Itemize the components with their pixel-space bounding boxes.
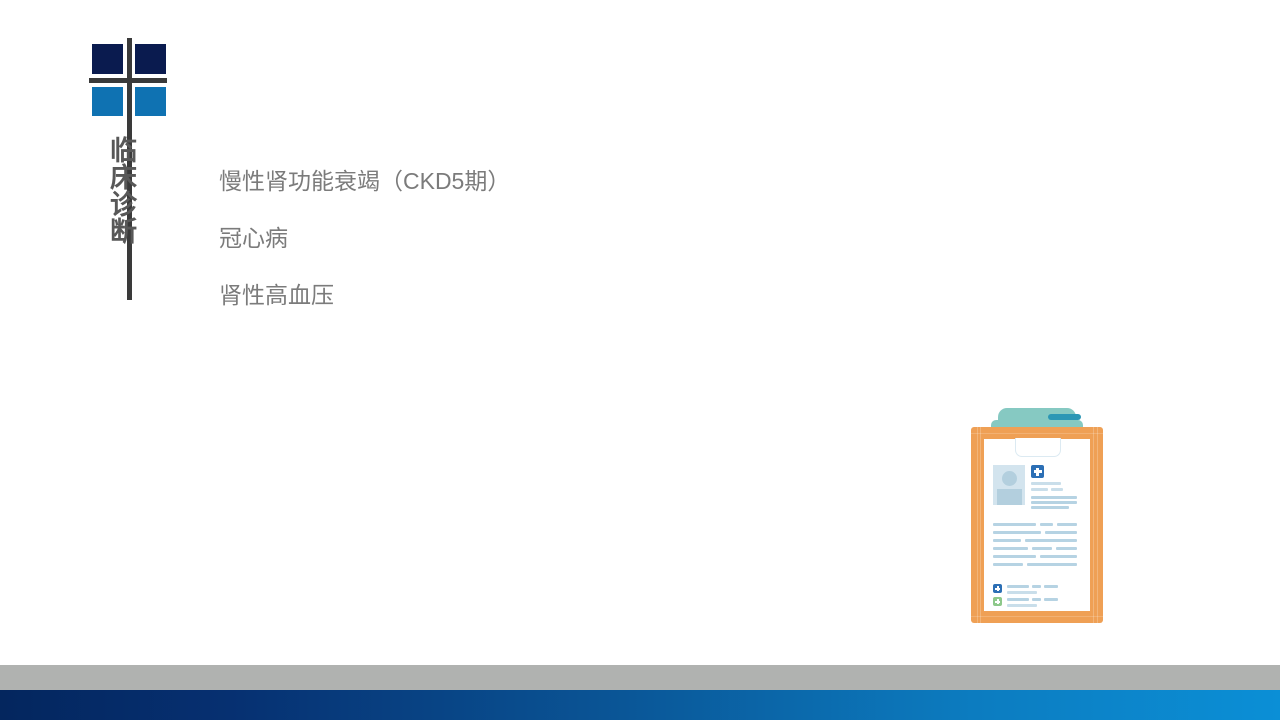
page-title: 临床诊断	[100, 136, 134, 244]
four-square-cross-logo	[92, 44, 170, 118]
slide-canvas: 临床诊断 慢性肾功能衰竭（CKD5期） 冠心病 肾性高血压	[0, 0, 1280, 720]
footer-gradient-bar	[0, 690, 1280, 720]
text-placeholder-line	[993, 531, 1041, 534]
clipboard-board	[971, 427, 1103, 623]
logo-square-top-left	[92, 44, 123, 74]
medical-cross-icon	[1031, 465, 1044, 478]
patient-photo-placeholder	[993, 465, 1025, 505]
text-placeholder-line	[1031, 488, 1048, 491]
text-placeholder-line	[1044, 598, 1058, 601]
text-placeholder-line	[993, 555, 1036, 558]
medical-clipboard-illustration	[971, 408, 1103, 623]
text-placeholder-line	[1045, 531, 1077, 534]
text-placeholder-line	[1044, 585, 1058, 588]
logo-square-top-right	[135, 44, 166, 74]
text-placeholder-line	[1040, 523, 1053, 526]
text-placeholder-line	[1031, 482, 1061, 485]
logo-square-bottom-right	[135, 87, 166, 116]
clipboard-clip-bar	[1048, 414, 1081, 420]
list-item: 慢性肾功能衰竭（CKD5期）	[219, 170, 859, 193]
text-placeholder-line	[1007, 598, 1029, 601]
logo-square-bottom-left	[92, 87, 123, 116]
text-placeholder-line	[1057, 523, 1077, 526]
medical-cross-icon-green	[993, 597, 1002, 606]
text-placeholder-line	[1007, 585, 1029, 588]
text-placeholder-line	[993, 547, 1028, 550]
clipboard-paper	[984, 439, 1090, 611]
avatar-body	[997, 489, 1022, 505]
text-placeholder-line	[1032, 598, 1041, 601]
text-placeholder-line	[1031, 496, 1077, 499]
list-item: 冠心病	[219, 227, 859, 250]
text-placeholder-line	[1032, 547, 1052, 550]
list-item: 肾性高血压	[219, 284, 859, 307]
text-placeholder-line	[1027, 563, 1077, 566]
avatar-head	[1002, 471, 1017, 486]
diagnosis-list: 慢性肾功能衰竭（CKD5期） 冠心病 肾性高血压	[219, 170, 859, 307]
text-placeholder-line	[1031, 506, 1069, 509]
text-placeholder-line	[1040, 555, 1077, 558]
text-placeholder-line	[1031, 501, 1077, 504]
text-placeholder-line	[993, 563, 1023, 566]
text-placeholder-line	[993, 523, 1036, 526]
medical-cross-icon-blue	[993, 584, 1002, 593]
text-placeholder-line	[993, 539, 1021, 542]
text-placeholder-line	[1007, 591, 1037, 594]
paper-notch	[1015, 438, 1061, 457]
text-placeholder-line	[1007, 604, 1037, 607]
footer-gray-bar	[0, 665, 1280, 690]
text-placeholder-line	[1032, 585, 1041, 588]
text-placeholder-line	[1025, 539, 1077, 542]
text-placeholder-line	[1056, 547, 1077, 550]
text-placeholder-line	[1051, 488, 1063, 491]
